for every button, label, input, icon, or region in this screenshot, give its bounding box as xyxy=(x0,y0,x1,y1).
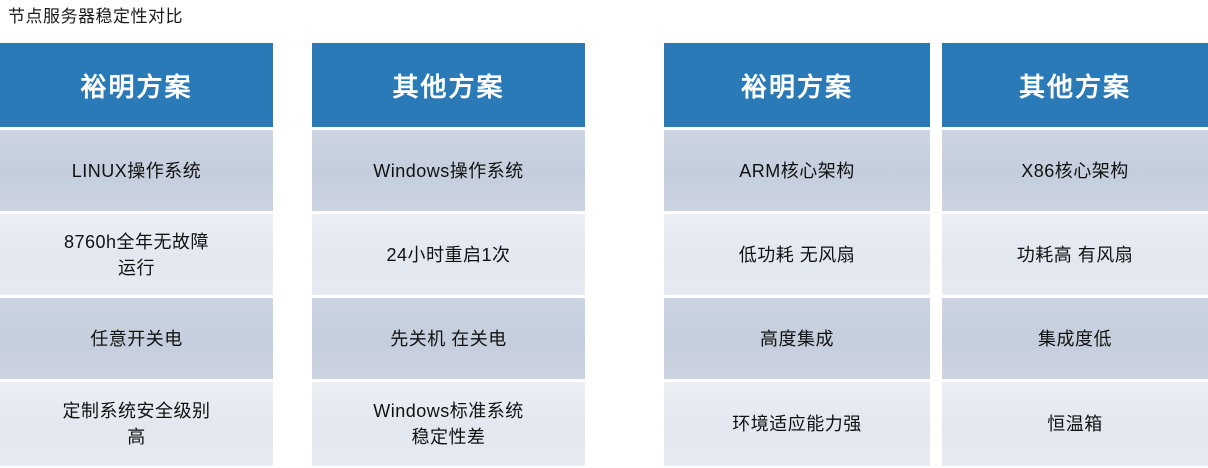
page-title: 节点服务器稳定性对比 xyxy=(8,6,183,28)
table-cell: LINUX操作系统 xyxy=(0,130,273,214)
column-divider xyxy=(930,43,942,468)
table-cell: 环境适应能力强 xyxy=(664,382,930,466)
table-cell: 8760h全年无故障运行 xyxy=(0,214,273,298)
cell-text: 高度集成 xyxy=(760,326,834,352)
column-divider xyxy=(273,43,312,468)
table-cell: Windows标准系统稳定性差 xyxy=(312,382,585,466)
column-other-hw: 其他方案 X86核心架构 功耗高 有风扇 集成度低 恒温箱 xyxy=(942,43,1208,468)
column-header-yuming-os: 裕明方案 xyxy=(0,43,273,130)
comparison-table-left: 裕明方案 LINUX操作系统 8760h全年无故障运行 任意开关电 定制系统安全… xyxy=(0,43,585,468)
cell-text: ARM核心架构 xyxy=(739,158,855,184)
table-cell: 24小时重启1次 xyxy=(312,214,585,298)
column-other-os: 其他方案 Windows操作系统 24小时重启1次 先关机 在关电 Window… xyxy=(312,43,585,468)
comparison-table-right: 裕明方案 ARM核心架构 低功耗 无风扇 高度集成 环境适应能力强 其他方案 X… xyxy=(664,43,1208,468)
table-cell: 集成度低 xyxy=(942,298,1208,382)
cell-text: 先关机 在关电 xyxy=(390,326,507,352)
cell-text: 低功耗 无风扇 xyxy=(739,242,856,268)
table-cell: 恒温箱 xyxy=(942,382,1208,466)
table-cell: 功耗高 有风扇 xyxy=(942,214,1208,298)
cell-text: X86核心架构 xyxy=(1021,158,1129,184)
cell-text: 8760h全年无故障运行 xyxy=(64,229,209,281)
column-header-other-hw: 其他方案 xyxy=(942,43,1208,130)
table-cell: Windows操作系统 xyxy=(312,130,585,214)
column-header-yuming-hw: 裕明方案 xyxy=(664,43,930,130)
cell-text: 24小时重启1次 xyxy=(386,242,510,268)
cell-text: Windows标准系统稳定性差 xyxy=(373,398,524,450)
column-header-other-os: 其他方案 xyxy=(312,43,585,130)
column-yuming-os: 裕明方案 LINUX操作系统 8760h全年无故障运行 任意开关电 定制系统安全… xyxy=(0,43,273,468)
cell-text: LINUX操作系统 xyxy=(72,158,202,184)
table-cell: X86核心架构 xyxy=(942,130,1208,214)
table-cell: 高度集成 xyxy=(664,298,930,382)
cell-text: Windows操作系统 xyxy=(373,158,524,184)
table-cell: 定制系统安全级别高 xyxy=(0,382,273,466)
cell-text: 集成度低 xyxy=(1038,326,1112,352)
cell-text: 功耗高 有风扇 xyxy=(1017,242,1134,268)
table-cell: 任意开关电 xyxy=(0,298,273,382)
cell-text: 任意开关电 xyxy=(90,326,183,352)
table-cell: 低功耗 无风扇 xyxy=(664,214,930,298)
table-cell: 先关机 在关电 xyxy=(312,298,585,382)
column-yuming-hw: 裕明方案 ARM核心架构 低功耗 无风扇 高度集成 环境适应能力强 xyxy=(664,43,930,468)
table-cell: ARM核心架构 xyxy=(664,130,930,214)
cell-text: 定制系统安全级别高 xyxy=(63,398,211,450)
cell-text: 环境适应能力强 xyxy=(732,411,862,437)
comparison-tables-container: 裕明方案 LINUX操作系统 8760h全年无故障运行 任意开关电 定制系统安全… xyxy=(0,43,1208,468)
cell-text: 恒温箱 xyxy=(1047,411,1103,437)
table-group-divider xyxy=(585,43,664,468)
